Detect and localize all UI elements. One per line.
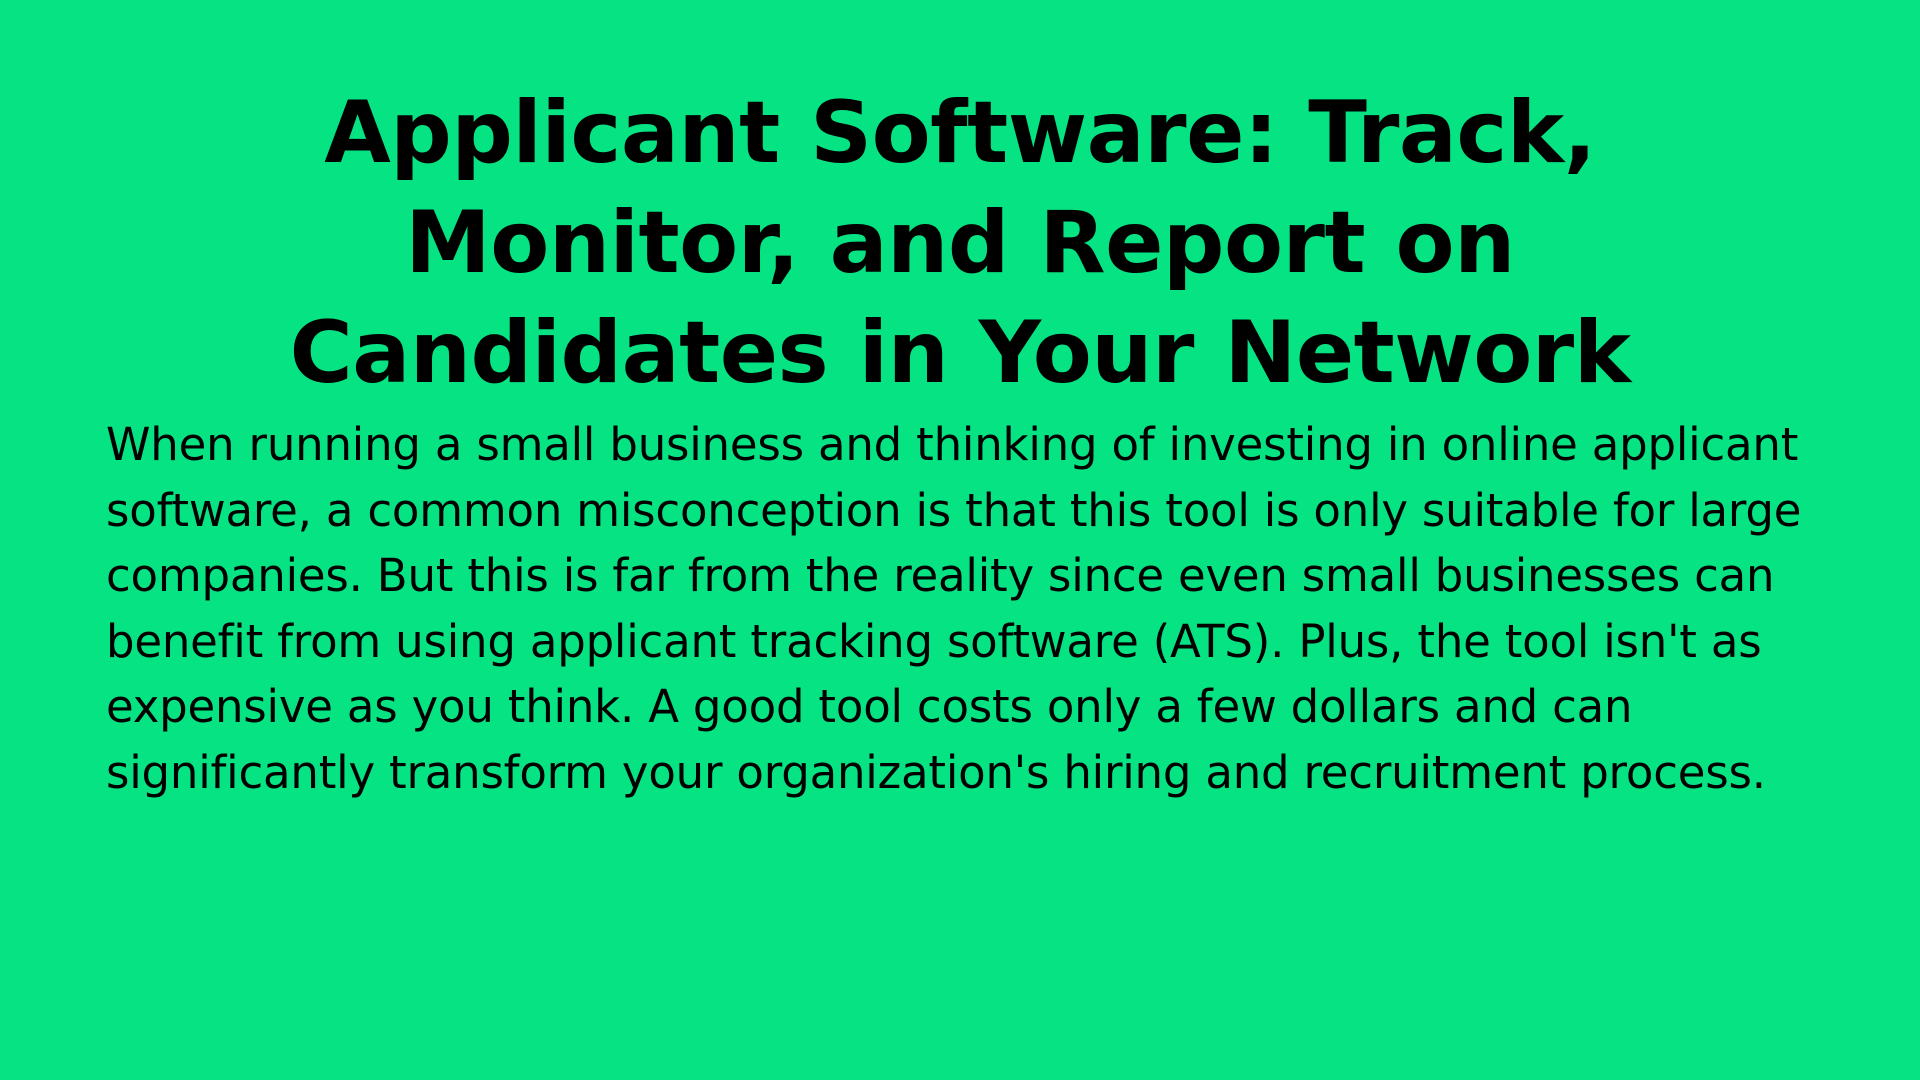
page-title: Applicant Software: Track, Monitor, and … (150, 78, 1770, 408)
body-paragraph: When running a small business and thinki… (106, 412, 1896, 805)
body-block: When running a small business and thinki… (106, 412, 1896, 805)
empty-lower-area (0, 840, 1920, 1080)
article-slide: Applicant Software: Track, Monitor, and … (0, 0, 1920, 1080)
heading-block: Applicant Software: Track, Monitor, and … (0, 78, 1920, 408)
